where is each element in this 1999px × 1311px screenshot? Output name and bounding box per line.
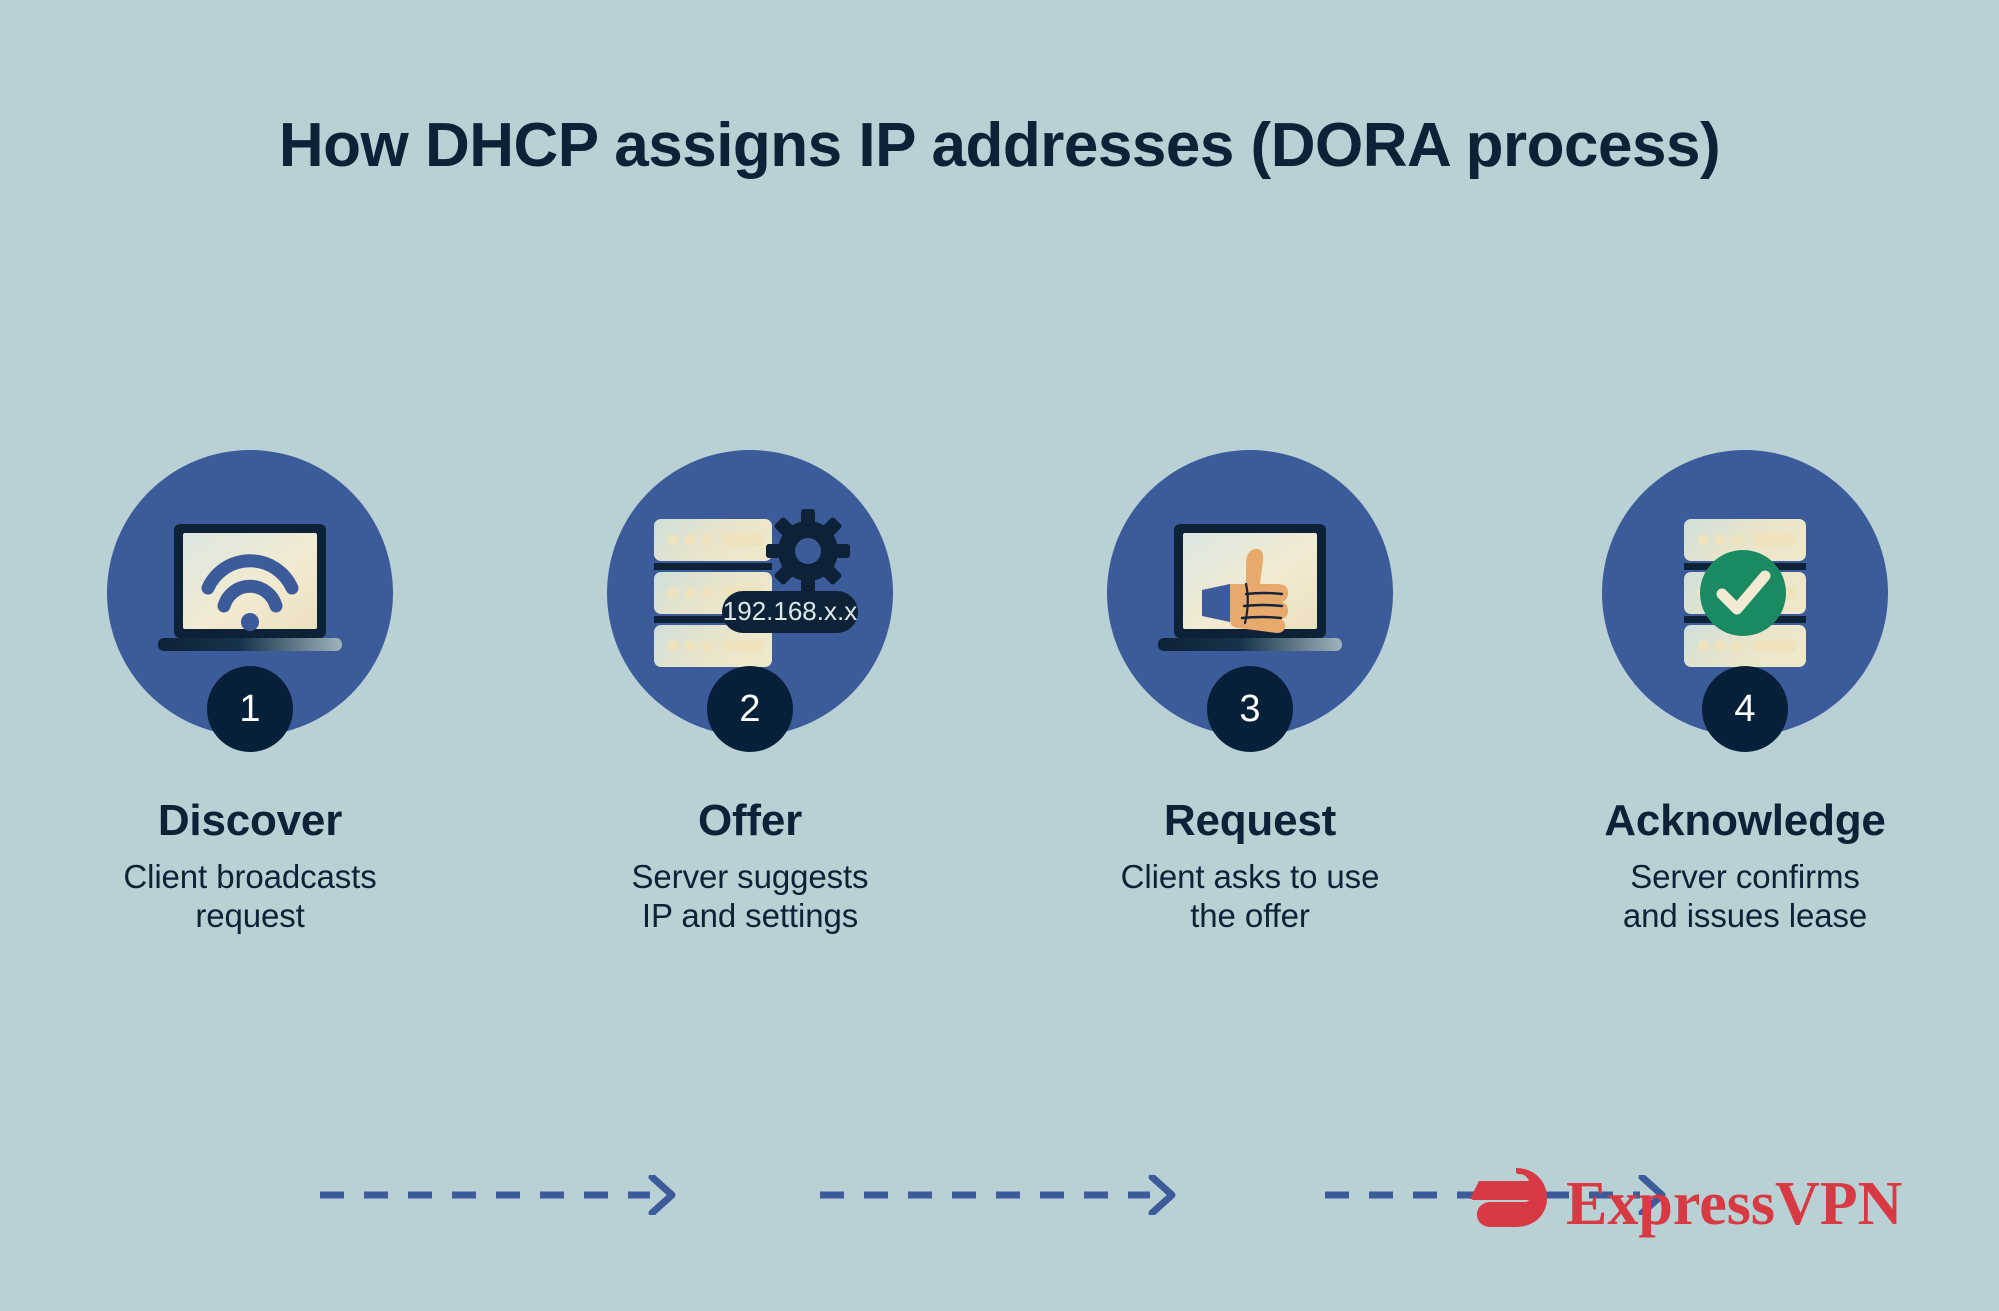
step-3-number-badge: 3 <box>1207 666 1293 752</box>
step-3-desc-line-1: Client asks to use <box>1060 858 1440 897</box>
laptop-wifi-icon <box>150 518 350 668</box>
step-2-number-badge: 2 <box>707 666 793 752</box>
step-4-number-badge: 4 <box>1702 666 1788 752</box>
step-3-desc-line-2: the offer <box>1060 897 1440 936</box>
step-4-number: 4 <box>1734 690 1755 728</box>
step-4-acknowledge[interactable]: 4 Acknowledge Server confirms and issues… <box>1555 450 1935 936</box>
gear-icon <box>766 509 850 593</box>
step-3-title: Request <box>1060 798 1440 844</box>
step-2-desc-line-1: Server suggests <box>560 858 940 897</box>
expressvpn-wordmark: ExpressVPN <box>1566 1173 1902 1235</box>
server-gear-icon: 192.168.x.x <box>640 513 860 673</box>
step-2-title: Offer <box>560 798 940 844</box>
arrow-1-to-2 <box>320 1175 690 1215</box>
step-1-desc-line-1: Client broadcasts <box>60 858 440 897</box>
step-3-request[interactable]: 3 Request Client asks to use the offer <box>1060 450 1440 936</box>
steps-row: 1 Discover Client broadcasts request <box>0 450 1999 1010</box>
expressvpn-e-mark <box>1470 1168 1548 1240</box>
page-title: How DHCP assigns IP addresses (DORA proc… <box>0 112 1999 180</box>
step-2-offer[interactable]: 192.168.x.x 2 Offer Server suggests IP a… <box>560 450 940 936</box>
step-4-desc-line-2: and issues lease <box>1555 897 1935 936</box>
ip-address-label: 192.168.x.x <box>723 596 857 626</box>
step-3-description: Client asks to use the offer <box>1060 858 1440 936</box>
step-1-number: 1 <box>239 690 260 728</box>
step-2-description: Server suggests IP and settings <box>560 858 940 936</box>
step-1-discover[interactable]: 1 Discover Client broadcasts request <box>60 450 440 936</box>
step-1-title: Discover <box>60 798 440 844</box>
step-4-description: Server confirms and issues lease <box>1555 858 1935 936</box>
server-check-icon <box>1660 513 1830 673</box>
check-circle-icon <box>1700 550 1786 636</box>
step-3-number: 3 <box>1239 690 1260 728</box>
expressvpn-logo[interactable]: ExpressVPN <box>1470 1168 1902 1240</box>
step-4-desc-line-1: Server confirms <box>1555 858 1935 897</box>
arrow-2-to-3 <box>820 1175 1190 1215</box>
step-1-desc-line-2: request <box>60 897 440 936</box>
step-2-number: 2 <box>739 690 760 728</box>
step-1-description: Client broadcasts request <box>60 858 440 936</box>
ip-address-badge: 192.168.x.x <box>722 591 858 633</box>
step-2-desc-line-2: IP and settings <box>560 897 940 936</box>
step-1-number-badge: 1 <box>207 666 293 752</box>
step-4-title: Acknowledge <box>1555 798 1935 844</box>
laptop-thumbsup-icon <box>1150 518 1350 668</box>
